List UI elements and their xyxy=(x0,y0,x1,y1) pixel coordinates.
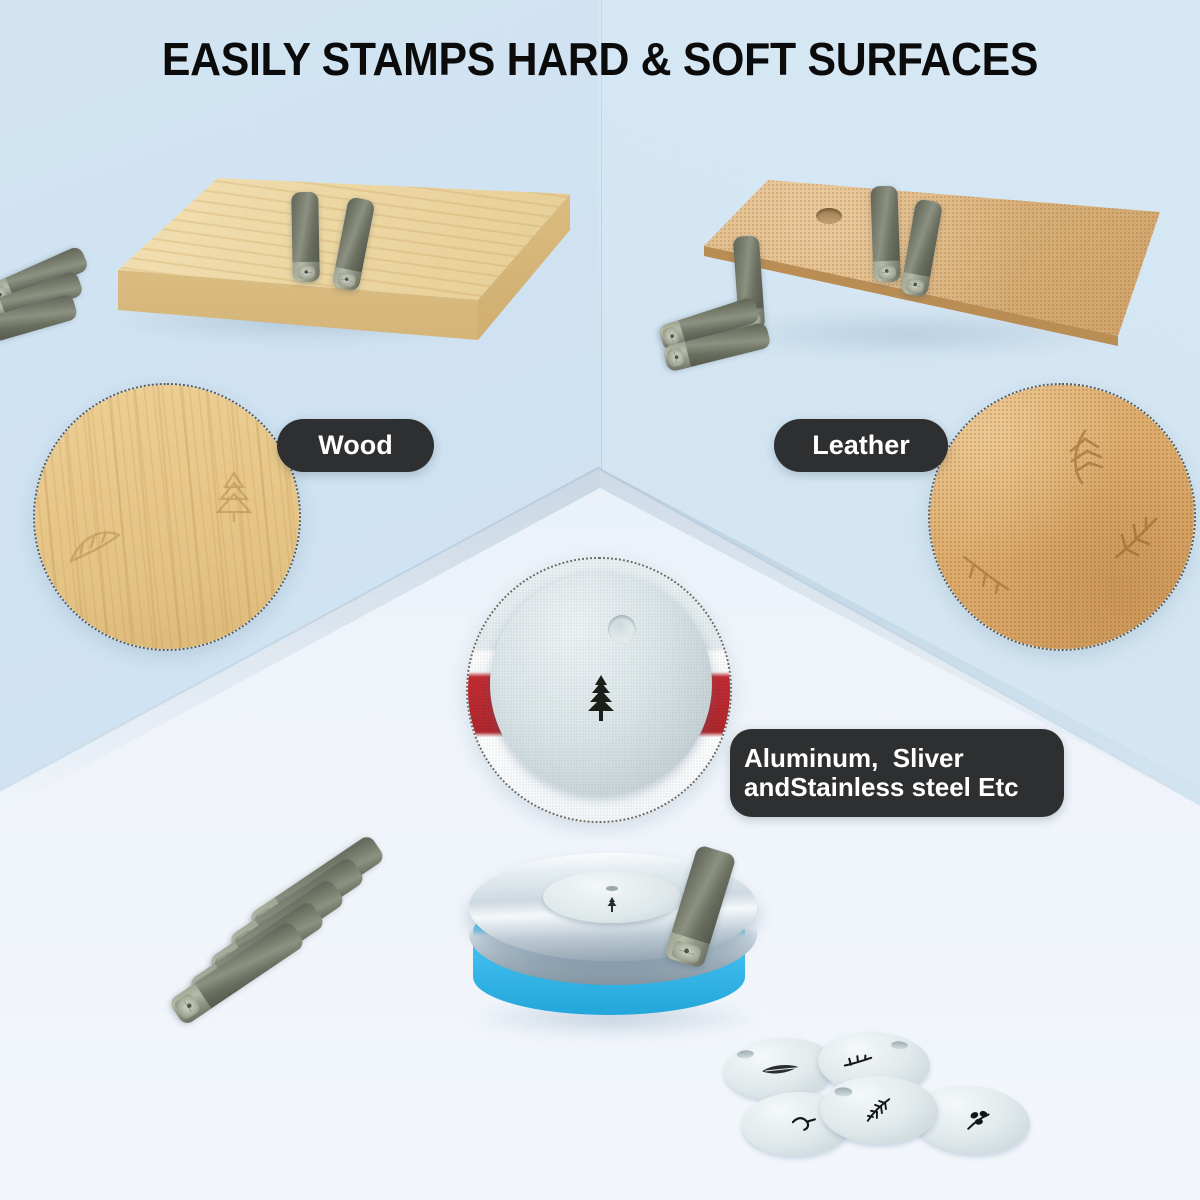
label-wood[interactable]: Wood xyxy=(277,419,434,472)
leather-stamp-impression-3 xyxy=(958,547,1016,595)
wood-stamp-impression-leaf xyxy=(65,525,125,567)
label-leather[interactable]: Leather xyxy=(774,419,948,472)
aluminium-disc-hole xyxy=(608,615,636,643)
stamp-punch-wood-1 xyxy=(291,192,320,282)
label-metal-line-1: Aluminum, Sliver xyxy=(744,744,1050,773)
stamped-disc-motif-sprig xyxy=(843,1053,874,1071)
stamped-disc-motif-leaf xyxy=(760,1061,801,1078)
stamped-disc-hole xyxy=(834,1087,852,1096)
anvil-blank-hole xyxy=(606,886,618,891)
stamped-disc-motif-bird xyxy=(790,1115,817,1132)
leather-sheet-hole xyxy=(816,208,842,224)
label-metal-line-2: andStainless steel Etc xyxy=(744,773,1050,802)
stamped-disc-hole xyxy=(891,1041,908,1050)
stamp-punch-bundle-leather xyxy=(700,240,870,350)
detail-circle-wood xyxy=(33,383,301,651)
stamping-anvil-assembly xyxy=(463,845,763,1040)
stamp-punch-face xyxy=(877,265,896,279)
detail-circle-metal xyxy=(466,557,732,823)
stamped-disc-motif-fern xyxy=(865,1097,893,1123)
detail-circle-leather xyxy=(928,383,1196,651)
stamp-punch-bundle-metal xyxy=(206,836,436,1016)
stamped-disc-group xyxy=(712,1030,1042,1200)
stamp-punch-face xyxy=(297,266,316,279)
label-metal[interactable]: Aluminum, Sliver andStainless steel Etc xyxy=(730,729,1064,817)
leather-stamp-impression-1 xyxy=(1058,425,1112,487)
wood-grain-texture xyxy=(35,385,299,649)
leather-stamp-impression-2 xyxy=(1108,511,1164,565)
stamp-punch-bundle-wood xyxy=(18,226,178,336)
anvil-blank-stamp-tree xyxy=(605,897,619,913)
product-infographic: EASILY STAMPS HARD & SOFT SURFACES xyxy=(0,0,1200,1200)
metal-stamp-impression-pine-tree xyxy=(585,674,617,722)
wood-stamp-impression-tree xyxy=(211,467,257,523)
stamped-disc-motif-branch xyxy=(965,1109,995,1133)
stamped-disc-hole xyxy=(737,1050,754,1059)
page-title: EASILY STAMPS HARD & SOFT SURFACES xyxy=(42,32,1158,86)
stamp-punch-leather-1 xyxy=(870,186,900,283)
